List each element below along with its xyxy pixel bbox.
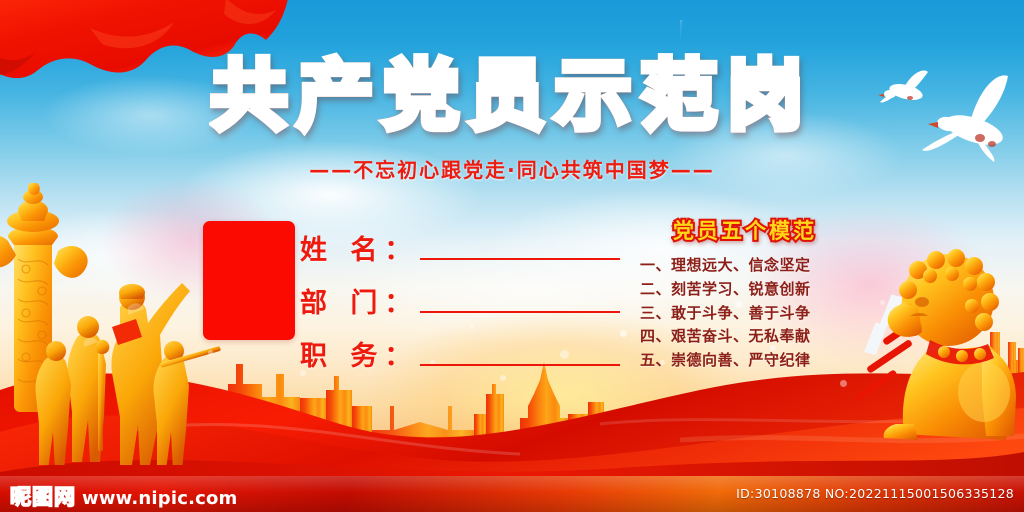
list-item: 三、敢于斗争、善于斗争 (640, 302, 850, 326)
footer-bar: 昵图网 www.nipic.com ID:30108878 NO:2022111… (0, 476, 1024, 512)
info-form: 姓 名： 部 门： 职 务： (300, 218, 620, 377)
brand-url[interactable]: www.nipic.com (82, 488, 238, 509)
position-label: 职 务： (300, 343, 418, 371)
id-code: ID:30108878 NO:20221115001506335128 (736, 486, 1014, 501)
position-input-line[interactable] (420, 364, 620, 366)
list-item: 四、艰苦奋斗、无私奉献 (640, 325, 850, 349)
department-input-line[interactable] (420, 311, 620, 313)
guardian-lion-statue-decor (852, 228, 1024, 460)
poster-canvas: 共产党员示范岗 ——不忘初心跟党走·同心共筑中国梦—— 姓 名： 部 门： 职 … (0, 0, 1024, 512)
form-row-name: 姓 名： (300, 218, 620, 265)
five-models-panel: 党员五个模范 一、理想远大、信念坚定 二、刻苦学习、锐意创新 三、敢于斗争、善于… (640, 218, 850, 373)
form-row-position: 职 务： (300, 324, 620, 371)
list-item: 二、刻苦学习、锐意创新 (640, 278, 850, 302)
panel-list: 一、理想远大、信念坚定 二、刻苦学习、锐意创新 三、敢于斗争、善于斗争 四、艰苦… (640, 254, 850, 372)
page-subtitle: ——不忘初心跟党走·同心共筑中国梦—— (0, 154, 1024, 183)
list-item: 五、崇德向善、严守纪律 (640, 349, 850, 373)
brand-name-cn: 昵图网 (10, 481, 76, 511)
panel-heading: 党员五个模范 (640, 218, 850, 244)
form-row-department: 部 门： (300, 271, 620, 318)
bokeh-decor (880, 300, 885, 305)
name-input-line[interactable] (420, 258, 620, 260)
bokeh-decor (620, 330, 627, 337)
brand-logo[interactable]: 昵图网 www.nipic.com (10, 481, 238, 511)
photo-placeholder[interactable] (203, 221, 295, 340)
golden-statues-decor (0, 175, 232, 465)
red-flag-decor (0, 0, 320, 118)
list-item: 一、理想远大、信念坚定 (640, 254, 850, 278)
bokeh-decor (840, 380, 847, 387)
bokeh-decor (208, 350, 213, 355)
department-label: 部 门： (300, 290, 418, 318)
name-label: 姓 名： (300, 237, 418, 265)
